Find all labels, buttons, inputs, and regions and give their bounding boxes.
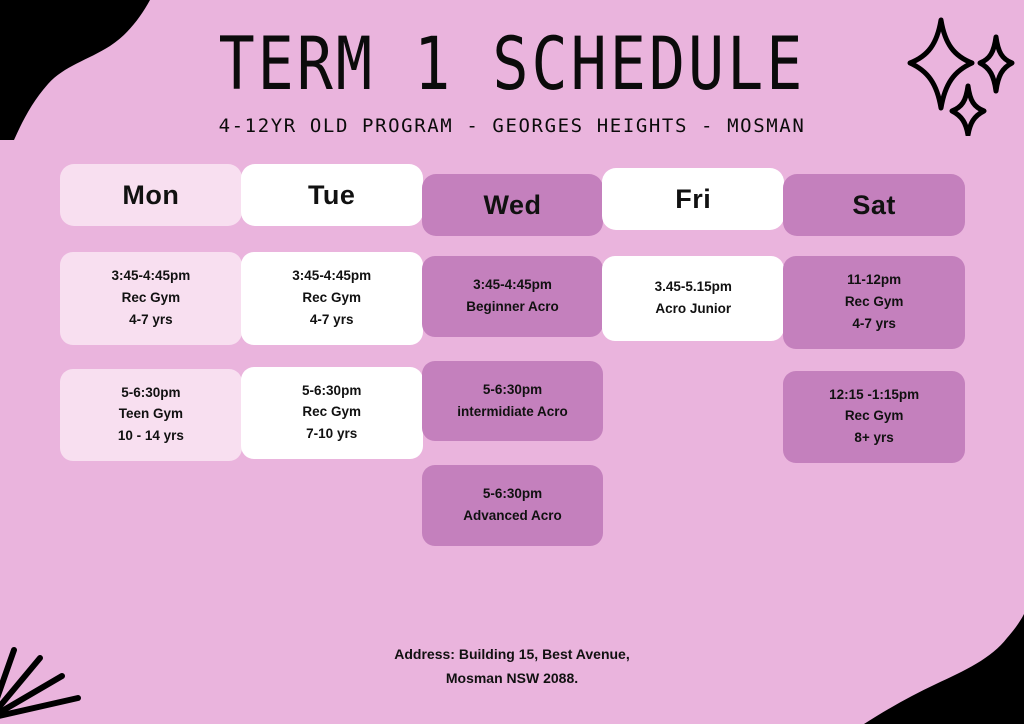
- schedule-grid: Mon3:45-4:45pmRec Gym4-7 yrs5-6:30pmTeen…: [60, 160, 964, 570]
- page-subtitle: 4-12YR OLD PROGRAM - GEORGES HEIGHTS - M…: [0, 115, 1024, 137]
- class-ages: 10 - 14 yrs: [68, 425, 234, 447]
- class-time: 3:45-4:45pm: [249, 265, 415, 287]
- class-time: 3:45-4:45pm: [68, 265, 234, 287]
- class-card[interactable]: 3:45-4:45pmBeginner Acro: [422, 256, 604, 337]
- address-line-2: Mosman NSW 2088.: [0, 667, 1024, 691]
- class-time: 5-6:30pm: [430, 379, 596, 401]
- day-header-mon[interactable]: Mon: [60, 164, 242, 226]
- footer-address: Address: Building 15, Best Avenue, Mosma…: [0, 643, 1024, 690]
- class-name: Advanced Acro: [430, 505, 596, 527]
- class-card[interactable]: 12:15 -1:15pmRec Gym8+ yrs: [783, 371, 965, 464]
- class-time: 11-12pm: [791, 269, 957, 291]
- class-time: 5-6:30pm: [430, 483, 596, 505]
- class-card[interactable]: 5-6:30pmAdvanced Acro: [422, 465, 604, 546]
- class-card[interactable]: 3:45-4:45pmRec Gym4-7 yrs: [60, 252, 242, 345]
- class-name: Rec Gym: [249, 287, 415, 309]
- page-title: TERM 1 SCHEDULE: [0, 22, 1024, 108]
- class-card[interactable]: 5-6:30pmintermidiate Acro: [422, 361, 604, 442]
- class-time: 3.45-5.15pm: [610, 276, 776, 298]
- class-card[interactable]: 5-6:30pmTeen Gym10 - 14 yrs: [60, 369, 242, 462]
- class-ages: 7-10 yrs: [249, 423, 415, 445]
- class-ages: 4-7 yrs: [249, 309, 415, 331]
- day-column-wed: Wed3:45-4:45pmBeginner Acro5-6:30pminter…: [422, 160, 604, 570]
- class-ages: 8+ yrs: [791, 427, 957, 449]
- class-time: 5-6:30pm: [68, 382, 234, 404]
- day-header-sat[interactable]: Sat: [783, 174, 965, 236]
- class-time: 5-6:30pm: [249, 380, 415, 402]
- class-card[interactable]: 3.45-5.15pmAcro Junior: [602, 256, 784, 341]
- day-column-tue: Tue3:45-4:45pmRec Gym4-7 yrs5-6:30pmRec …: [241, 160, 423, 481]
- class-ages: 4-7 yrs: [68, 309, 234, 331]
- schedule-poster: TERM 1 SCHEDULE 4-12YR OLD PROGRAM - GEO…: [0, 0, 1024, 724]
- class-card[interactable]: 5-6:30pmRec Gym7-10 yrs: [241, 367, 423, 460]
- class-name: Rec Gym: [249, 401, 415, 423]
- address-line-1: Address: Building 15, Best Avenue,: [0, 643, 1024, 667]
- day-column-mon: Mon3:45-4:45pmRec Gym4-7 yrs5-6:30pmTeen…: [60, 160, 242, 485]
- class-name: Teen Gym: [68, 403, 234, 425]
- poster-header: TERM 1 SCHEDULE 4-12YR OLD PROGRAM - GEO…: [0, 22, 1024, 137]
- class-time: 12:15 -1:15pm: [791, 384, 957, 406]
- day-column-sat: Sat11-12pmRec Gym4-7 yrs12:15 -1:15pmRec…: [783, 160, 965, 485]
- class-card[interactable]: 3:45-4:45pmRec Gym4-7 yrs: [241, 252, 423, 345]
- class-time: 3:45-4:45pm: [430, 274, 596, 296]
- class-name: Acro Junior: [610, 298, 776, 320]
- day-header-wed[interactable]: Wed: [422, 174, 604, 236]
- class-card[interactable]: 11-12pmRec Gym4-7 yrs: [783, 256, 965, 349]
- class-name: Rec Gym: [791, 291, 957, 313]
- class-ages: 4-7 yrs: [791, 313, 957, 335]
- class-name: Rec Gym: [68, 287, 234, 309]
- day-header-fri[interactable]: Fri: [602, 168, 784, 230]
- class-name: Rec Gym: [791, 405, 957, 427]
- day-column-fri: Fri3.45-5.15pmAcro Junior: [602, 160, 784, 363]
- day-header-tue[interactable]: Tue: [241, 164, 423, 226]
- class-name: Beginner Acro: [430, 296, 596, 318]
- class-name: intermidiate Acro: [430, 401, 596, 423]
